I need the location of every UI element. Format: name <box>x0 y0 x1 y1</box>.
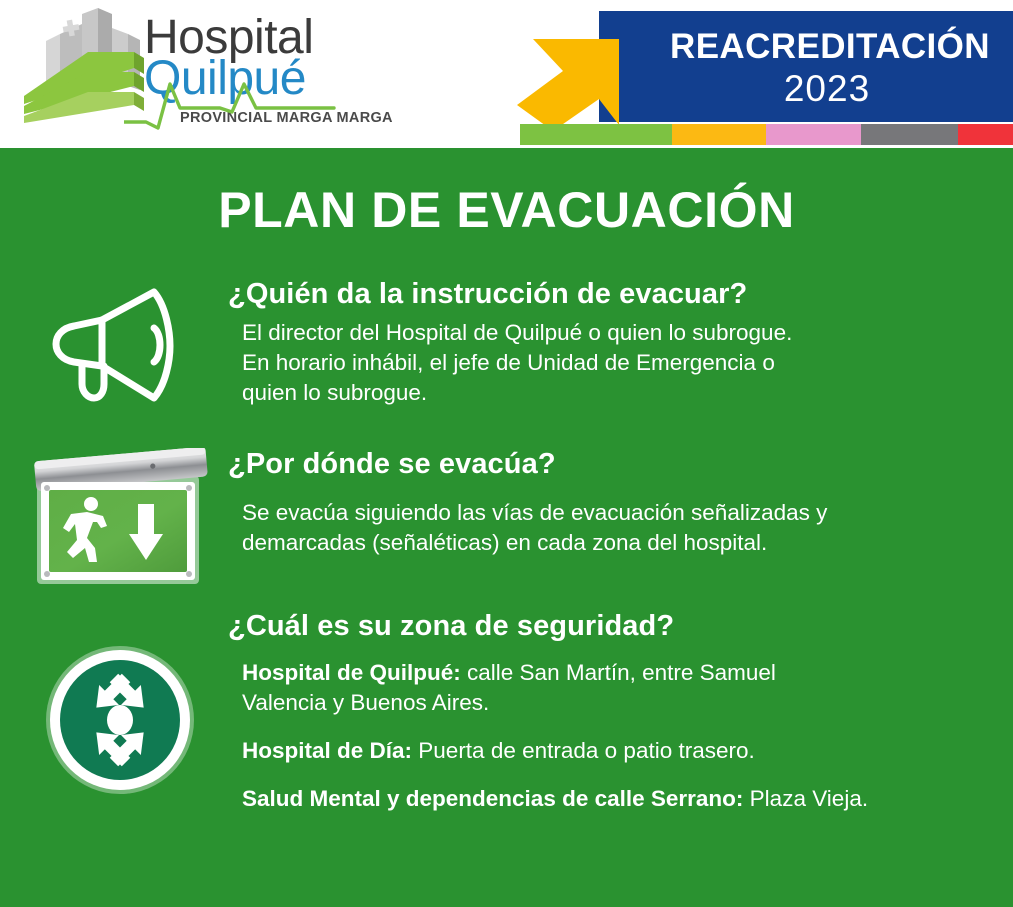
assembly-point-icon <box>40 640 200 805</box>
accreditation-color-strip <box>520 124 1013 145</box>
section-3-body: ¿Cuál es su zona de seguridad? Hospital … <box>228 608 968 814</box>
section-3-text: Hospital de Quilpué: calle San Martín, e… <box>228 650 968 814</box>
zone-label-salud-mental: Salud Mental y dependencias de calle Ser… <box>242 786 743 811</box>
section-1-text: El director del Hospital de Quilpué o qu… <box>228 318 968 408</box>
spacer-2 <box>242 766 968 784</box>
accreditation-banner: REACREDITACIÓN 2023 <box>599 11 1013 148</box>
accreditation-title: REACREDITACIÓN <box>599 29 1013 65</box>
section-1-line-1: El director del Hospital de Quilpué o qu… <box>242 318 968 348</box>
page-header: Hospital Quilpué PROVINCIAL MARGA MARGA … <box>0 0 1013 148</box>
zone-text-salud-mental: Plaza Vieja. <box>743 786 868 811</box>
section-2-heading: ¿Por dónde se evacúa? <box>228 446 968 482</box>
zone-item-hospital-quilpue: Hospital de Quilpué: calle San Martín, e… <box>242 658 968 688</box>
strip-green <box>520 124 672 145</box>
section-1-icon-area <box>0 276 220 436</box>
section-3-icon-area <box>0 608 220 898</box>
section-2-icon-area <box>0 446 220 596</box>
zone-item-salud-mental: Salud Mental y dependencias de calle Ser… <box>242 784 968 814</box>
logo-line-quilpue: Quilpué <box>144 55 306 103</box>
logo-tagline: PROVINCIAL MARGA MARGA <box>180 110 393 126</box>
section-1-line-3: quien lo subrogue. <box>242 378 968 408</box>
zone-text-hospital-quilpue: calle San Martín, entre Samuel <box>461 660 776 685</box>
zone-label-hospital-dia: Hospital de Día: <box>242 738 412 763</box>
zone-text-hospital-dia: Puerta de entrada o patio trasero. <box>412 738 755 763</box>
zone-item-hospital-quilpue-line2: Valencia y Buenos Aires. <box>242 688 968 718</box>
emergency-exit-sign-icon <box>25 448 215 591</box>
page-title: PLAN DE EVACUACIÓN <box>0 181 1013 239</box>
zone-label-hospital-quilpue: Hospital de Quilpué: <box>242 660 461 685</box>
section-1-heading: ¿Quién da la instrucción de evacuar? <box>228 276 968 312</box>
strip-gray <box>861 124 958 145</box>
section-1-body: ¿Quién da la instrucción de evacuar? El … <box>228 276 968 408</box>
strip-pink <box>766 124 861 145</box>
section-2-line-1: Se evacúa siguiendo las vías de evacuaci… <box>242 498 968 528</box>
zone-item-hospital-dia: Hospital de Día: Puerta de entrada o pat… <box>242 736 968 766</box>
hospital-logo-wordmark: Hospital Quilpué PROVINCIAL MARGA MARGA <box>144 14 374 134</box>
section-1-line-2: En horario inhábil, el jefe de Unidad de… <box>242 348 968 378</box>
accreditation-year: 2023 <box>599 69 1013 109</box>
section-where-to-evacuate: ¿Por dónde se evacúa? Se evacúa siguiend… <box>0 446 1013 596</box>
strip-yellow <box>672 124 766 145</box>
hospital-logo: Hospital Quilpué PROVINCIAL MARGA MARGA <box>16 6 366 138</box>
hospital-building-logo-icon <box>16 6 156 131</box>
megaphone-icon <box>42 280 182 415</box>
section-3-heading: ¿Cuál es su zona de seguridad? <box>228 608 968 644</box>
section-safety-zone: ¿Cuál es su zona de seguridad? Hospital … <box>0 608 1013 898</box>
section-who-gives-instruction: ¿Quién da la instrucción de evacuar? El … <box>0 276 1013 436</box>
section-2-text: Se evacúa siguiendo las vías de evacuaci… <box>228 488 968 558</box>
evacuation-plan-panel: PLAN DE EVACUACIÓN <box>0 148 1013 907</box>
section-2-body: ¿Por dónde se evacúa? Se evacúa siguiend… <box>228 446 968 558</box>
strip-red <box>958 124 1013 145</box>
section-2-line-2: demarcadas (señaléticas) en cada zona de… <box>242 528 968 558</box>
spacer-1 <box>242 718 968 736</box>
